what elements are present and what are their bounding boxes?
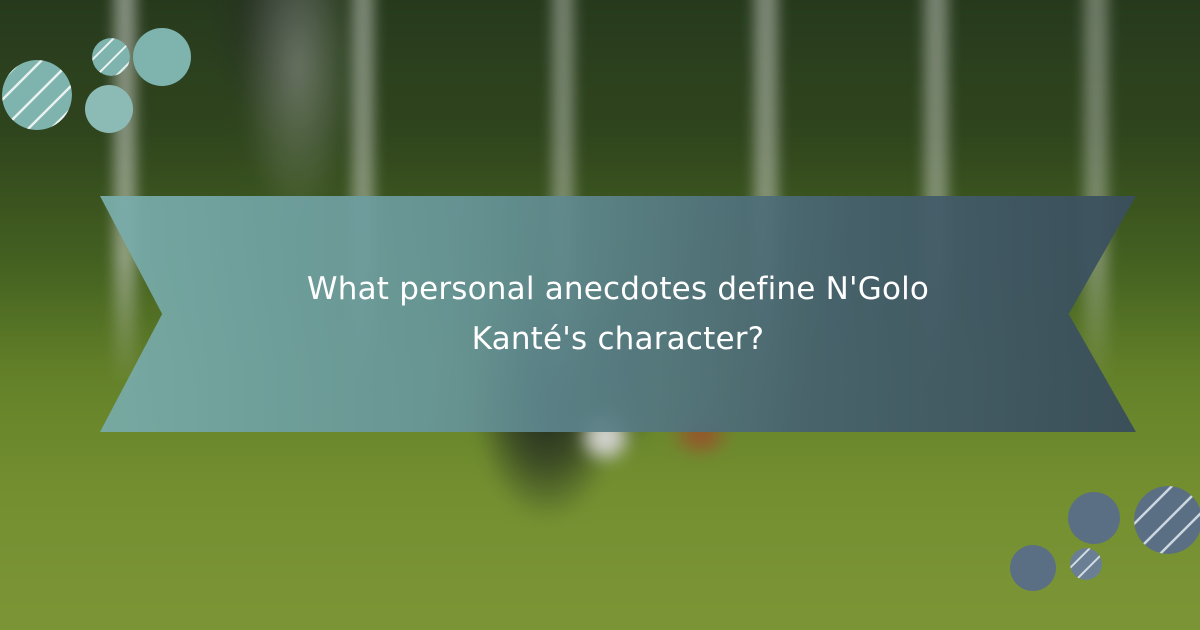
striped-circle-graphic (2, 60, 72, 130)
striped-circle-icon (2, 60, 72, 130)
striped-circle-small-icon (92, 38, 130, 76)
striped-circle-small-graphic-br (1070, 548, 1102, 580)
solid-circle-large-icon-br (1068, 492, 1120, 544)
poster-title: What personal anecdotes define N'Golo Ka… (258, 264, 978, 364)
solid-circle-large-icon (133, 28, 191, 86)
striped-circle-small-icon-br (1070, 548, 1102, 580)
striped-circle-graphic-br (1134, 486, 1200, 554)
solid-circle-medium-icon-br (1010, 545, 1056, 591)
solid-circle-small-icon (85, 85, 133, 133)
striped-circle-icon-br (1134, 486, 1200, 554)
poster-canvas: What personal anecdotes define N'Golo Ka… (0, 0, 1200, 630)
title-banner: What personal anecdotes define N'Golo Ka… (100, 196, 1136, 432)
striped-circle-small-graphic (92, 38, 130, 76)
